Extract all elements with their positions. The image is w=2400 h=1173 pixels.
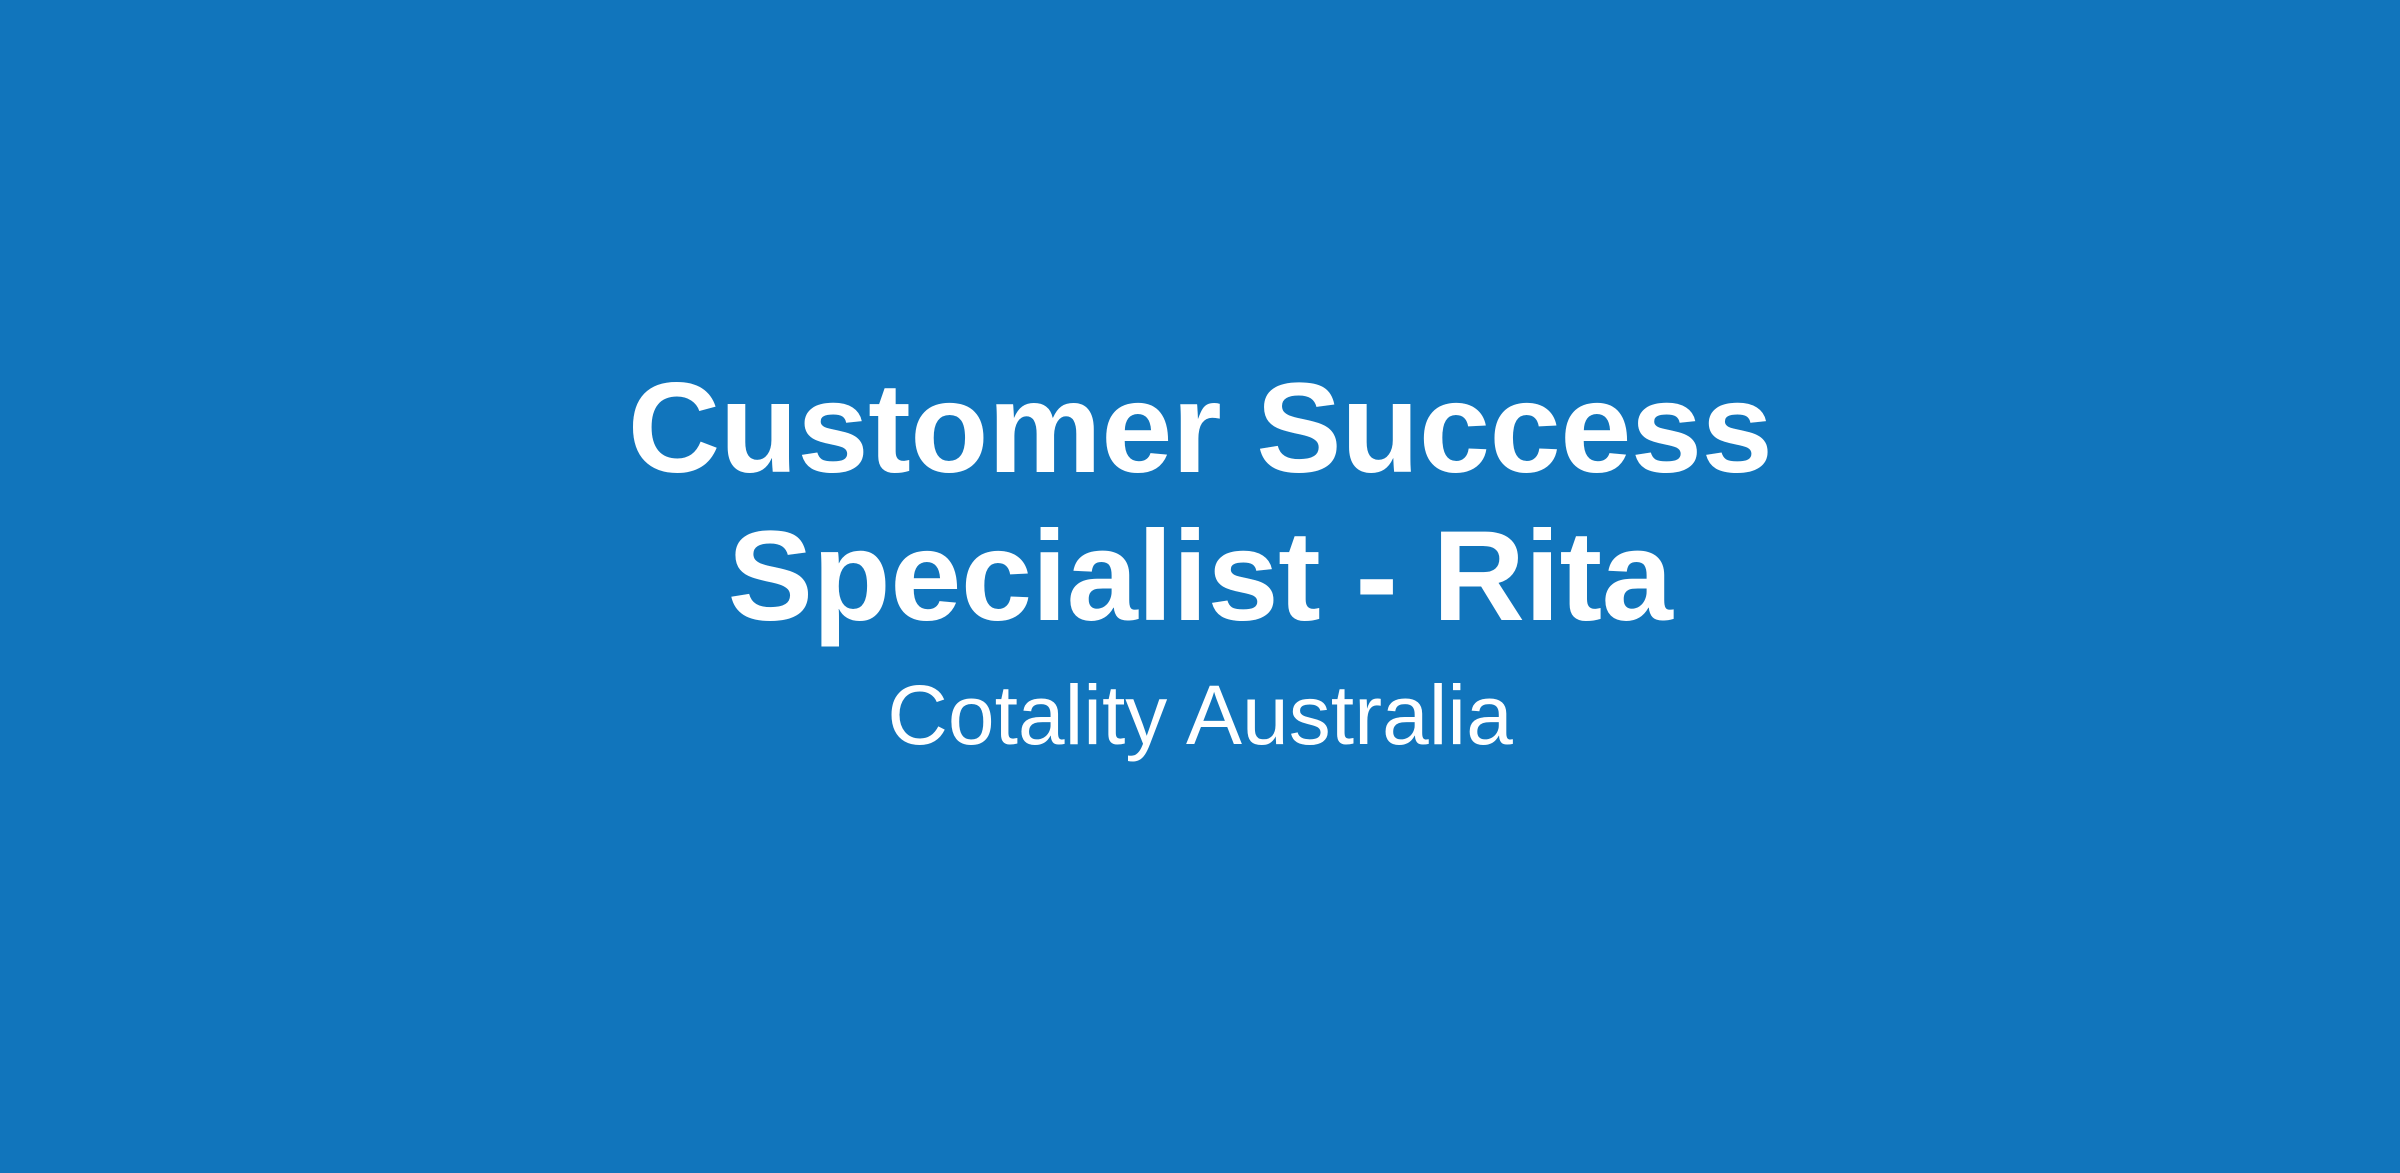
page-title: Customer Success Specialist - Rita bbox=[350, 355, 2050, 651]
hero-banner: Customer Success Specialist - Rita Cotal… bbox=[0, 0, 2400, 1173]
page-subtitle: Cotality Australia bbox=[350, 667, 2050, 763]
hero-content: Customer Success Specialist - Rita Cotal… bbox=[0, 0, 2400, 1173]
